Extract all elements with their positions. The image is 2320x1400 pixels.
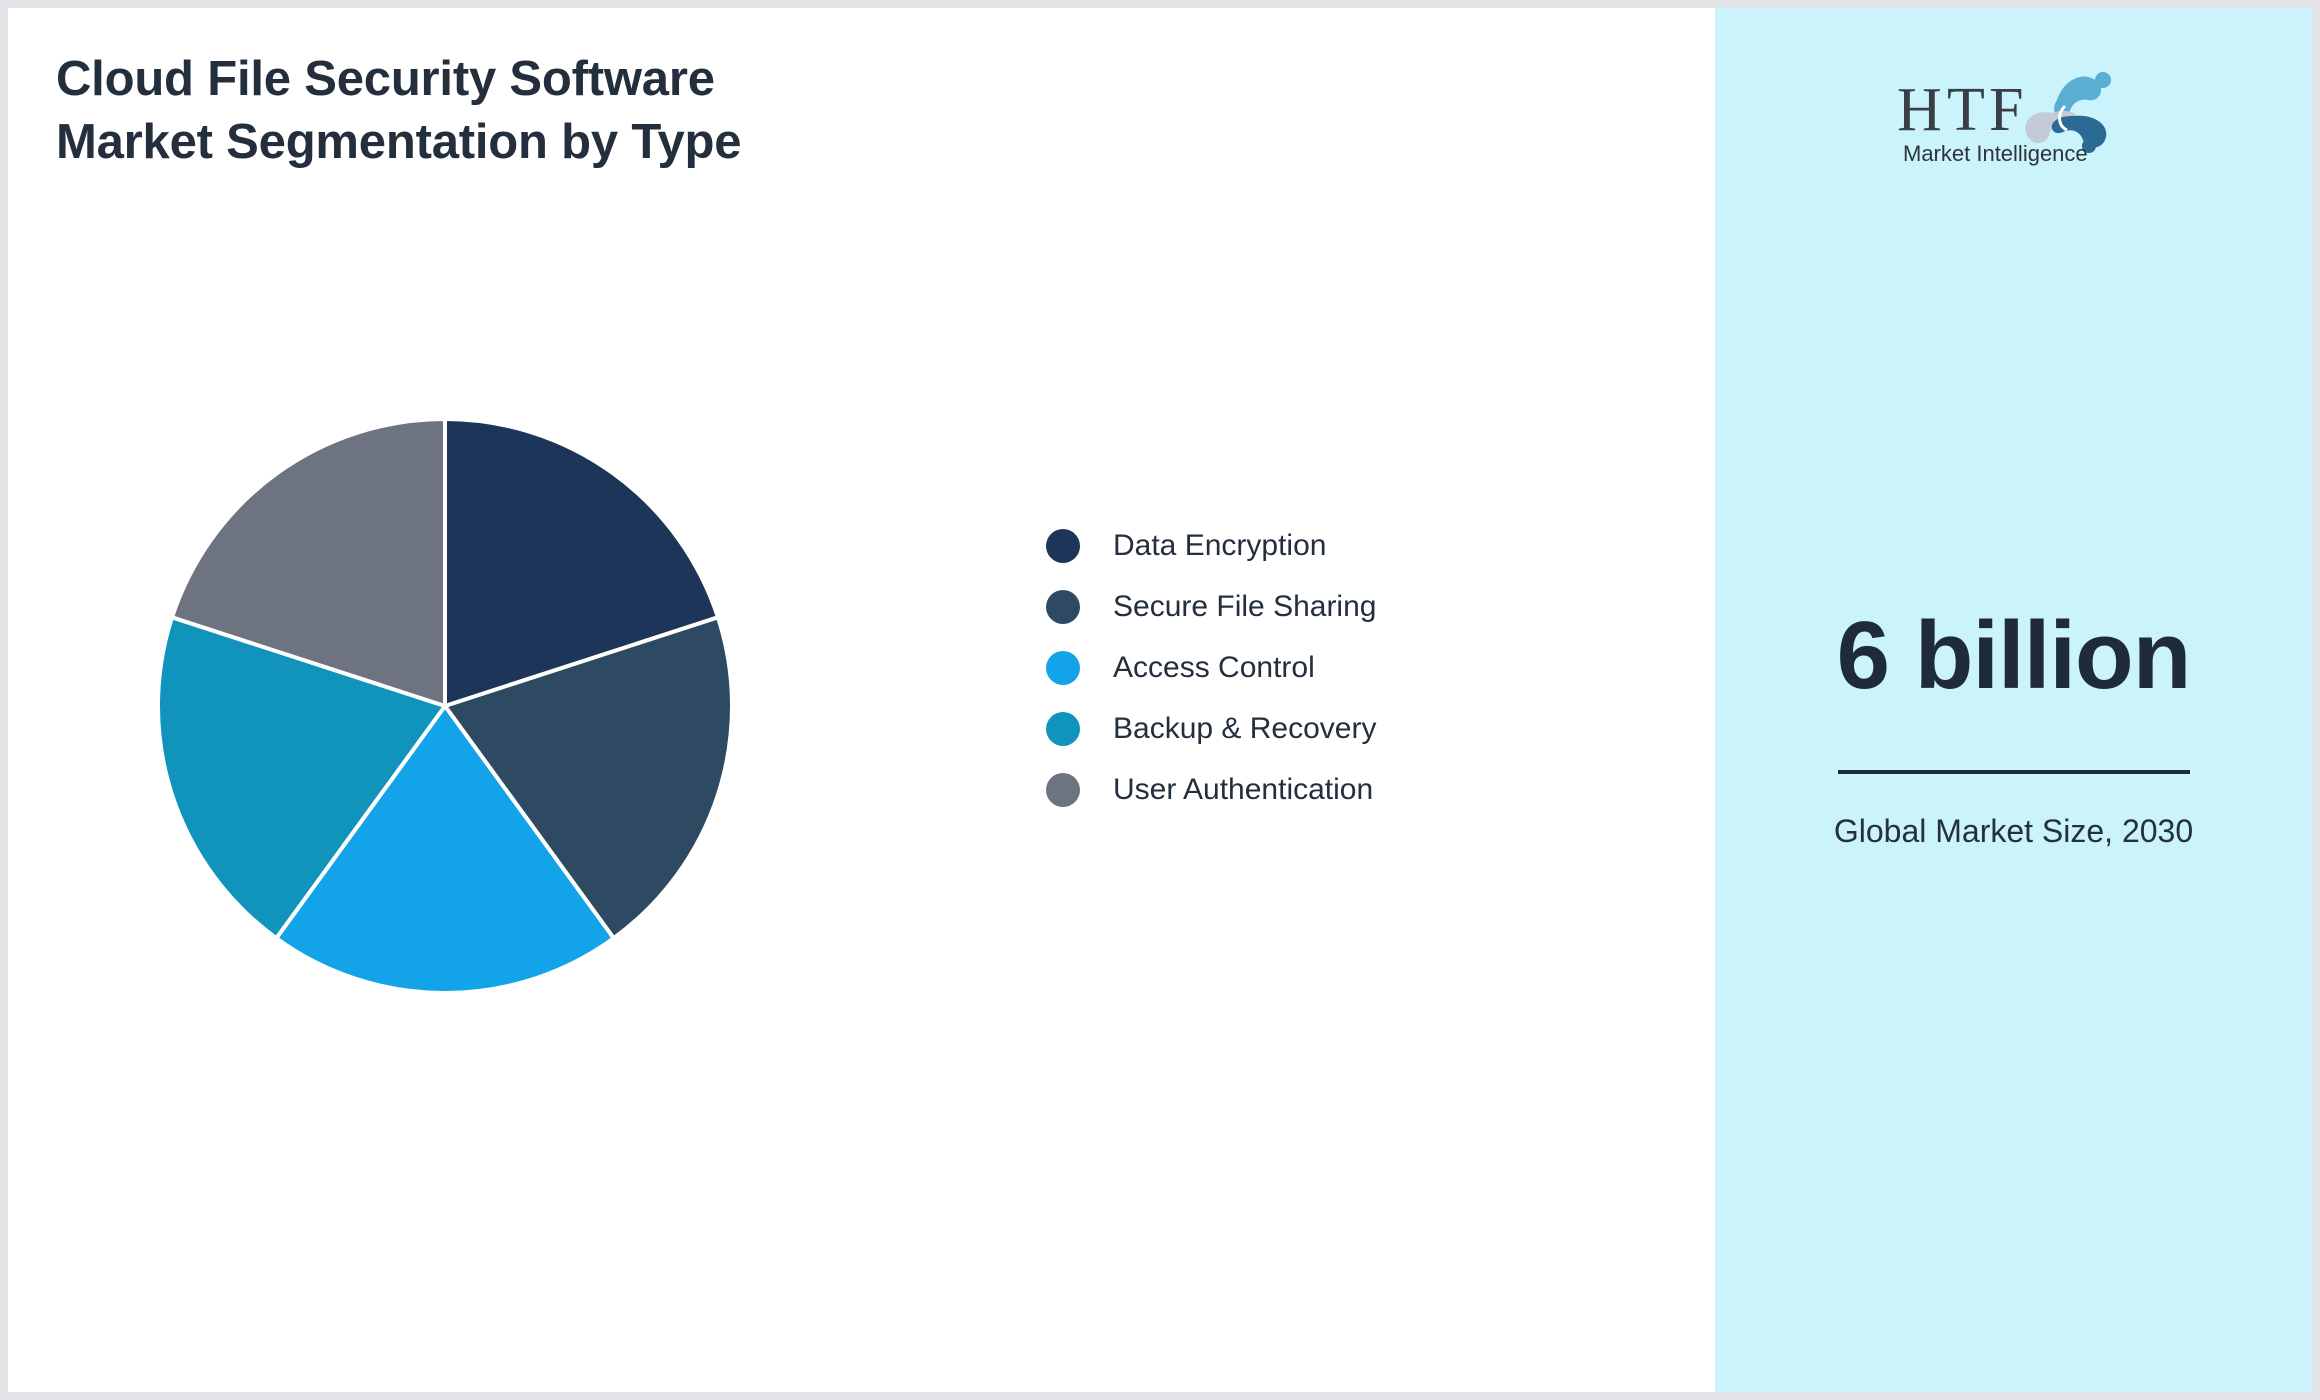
htf-logo-svg: H T F Market Inte [1889,58,2139,168]
logo-letter-h-icon: H [1897,76,1942,144]
logo-letter-f-icon: F [1989,76,2023,144]
legend-swatch-icon-2 [1046,651,1080,685]
legend-swatch-icon-0 [1046,529,1080,563]
page-title-line-2: Market Segmentation by Type [56,111,1056,174]
figure-left-head-icon [2039,113,2053,127]
left-content-panel: Cloud File Security Software Market Segm… [8,8,1715,1392]
legend-item-backup-recovery[interactable]: Backup & Recovery [1046,711,1376,747]
legend-label-1: Secure File Sharing [1113,592,1376,622]
pie-chart-svg [145,406,745,1006]
stat-block: 6 billion Global Market Size, 2030 [1784,608,2244,854]
logo-tagline: Market Intelligence [1903,141,2088,166]
legend-label-3: Backup & Recovery [1113,714,1376,744]
stat-caption: Global Market Size, 2030 [1784,808,2244,854]
legend-swatch-icon-3 [1046,712,1080,746]
legend-label-4: User Authentication [1113,775,1373,805]
stat-value: 6 billion [1784,608,2244,704]
figure-top-head-icon [2095,72,2111,88]
legend-label-2: Access Control [1113,653,1315,683]
legend-item-secure-file-sharing[interactable]: Secure File Sharing [1046,589,1376,625]
legend-label-0: Data Encryption [1113,531,1326,561]
chart-legend: Data Encryption Secure File Sharing Acce… [1046,528,1376,808]
legend-item-data-encryption[interactable]: Data Encryption [1046,528,1376,564]
legend-item-access-control[interactable]: Access Control [1046,650,1376,686]
legend-item-user-authentication[interactable]: User Authentication [1046,772,1376,808]
page-title: Cloud File Security Software Market Segm… [56,48,1056,173]
infographic-frame: Cloud File Security Software Market Segm… [8,8,2312,1392]
page-title-line-1: Cloud File Security Software [56,48,1056,111]
pie-chart [145,406,745,1006]
pie-slice-group [158,419,732,993]
legend-swatch-icon-4 [1046,773,1080,807]
logo-letter-t-icon: T [1947,76,1985,144]
legend-swatch-icon-1 [1046,590,1080,624]
htf-logo: H T F Market Inte [1889,58,2139,168]
right-stat-panel: H T F Market Inte [1715,8,2312,1392]
stat-divider [1838,770,2190,774]
